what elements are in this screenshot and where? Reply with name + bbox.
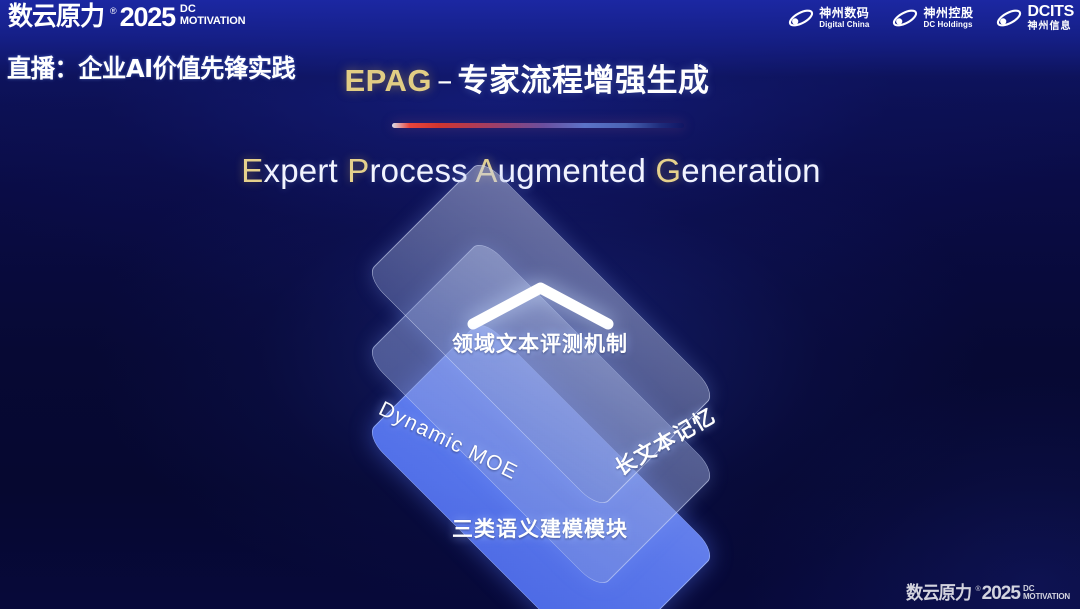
page-title-dash: – — [437, 63, 453, 99]
swirl-logo-icon — [995, 7, 1023, 29]
swirl-logo-icon — [891, 7, 919, 29]
layer-label-bottom: 三类语义建模模块 — [452, 513, 628, 543]
layer-label-top: 领域文本评测机制 — [452, 328, 628, 358]
partner-label: 神州控股 DC Holdings — [923, 7, 973, 29]
watermark-registered-mark: ® — [976, 585, 981, 594]
partner-name-cn: 神州信息 — [1027, 22, 1074, 33]
partner-name-en: Digital China — [819, 21, 869, 29]
partner-logo-group: 神州数码 Digital China 神州控股 DC Holdings — [787, 4, 1074, 32]
swirl-logo-icon — [787, 7, 815, 29]
page-title-cn: 专家流程增强生成 — [458, 63, 710, 99]
watermark-year: 2025 — [982, 584, 1020, 603]
watermark-name-cn: 数云原力 — [906, 584, 971, 603]
brand-name-cn: 数云原力 — [8, 3, 104, 31]
subtitle-word-generation: eneration — [681, 152, 820, 189]
brand-dc-bottom: MOTIVATION — [180, 16, 245, 27]
subtitle-initial-e: E — [241, 152, 263, 189]
partner-label: DCITS 神州信息 — [1027, 4, 1074, 32]
watermark-dc-motivation: DC MOTIVATION — [1023, 585, 1070, 601]
subtitle-initial-p: P — [347, 152, 369, 189]
watermark-dc-bottom: MOTIVATION — [1023, 593, 1070, 601]
brand-registered-mark: ® — [110, 5, 117, 17]
slide-canvas: 数云原力 ® 2025 DC MOTIVATION 直播：企业AI价值先锋实践 … — [0, 0, 1080, 609]
brand-dc-motivation: DC MOTIVATION — [180, 4, 245, 27]
partner-label: 神州数码 Digital China — [819, 7, 869, 29]
partner-name-en: DCITS — [1027, 4, 1074, 21]
brand-logo: 数云原力 ® 2025 DC MOTIVATION — [8, 3, 245, 31]
layer-stack-diagram: 领域文本评测机制 Dynamic MOE 长文本记忆 三类语义建模模块 — [295, 228, 785, 576]
title-divider — [392, 123, 684, 128]
watermark-logo: 数云原力 ® 2025 DC MOTIVATION — [906, 584, 1070, 603]
brand-dc-top: DC — [180, 4, 245, 15]
page-title: EPAG–专家流程增强生成 — [0, 55, 1067, 100]
partner-name-en: DC Holdings — [923, 21, 973, 29]
chevron-up-icon — [463, 276, 618, 336]
partner-logo-digital-china: 神州数码 Digital China — [787, 7, 869, 29]
subtitle-word-expert: xpert — [264, 152, 348, 189]
brand-year: 2025 — [120, 3, 175, 31]
subtitle-word-augmented: ugmented — [498, 152, 656, 189]
page-subtitle: Expert Process Augmented Generation — [0, 152, 1071, 190]
partner-name-cn: 神州控股 — [923, 7, 973, 20]
partner-logo-dc-holdings: 神州控股 DC Holdings — [891, 7, 973, 29]
partner-logo-dcits: DCITS 神州信息 — [995, 4, 1074, 32]
page-title-acronym: EPAG — [344, 63, 432, 98]
partner-name-cn: 神州数码 — [819, 7, 869, 20]
subtitle-initial-g: G — [655, 152, 681, 189]
